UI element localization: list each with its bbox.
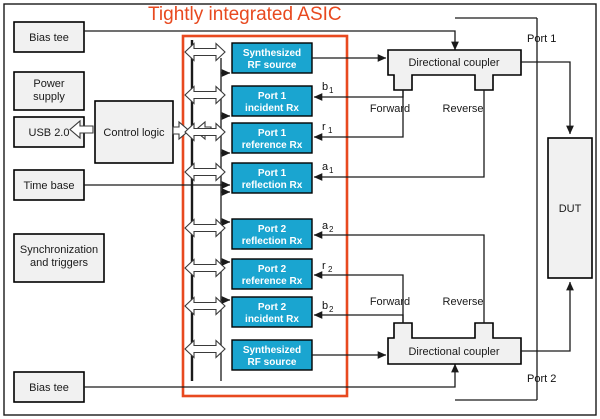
port-1-label: Port 1 (527, 33, 556, 45)
block-label-line2: incident Rx (245, 314, 299, 325)
block-label-line1: Port 1 (258, 168, 287, 179)
block-label-line2: reflection Rx (242, 236, 303, 247)
wire-coupler-forward-b2 (314, 315, 403, 323)
block-label-line1: Synthesized (243, 48, 301, 59)
signal-base: a (322, 161, 329, 173)
signal-sub: 2 (328, 265, 333, 274)
bus-arrow-p2-incident (185, 298, 225, 315)
coupler-bottom-reverse-label: Reverse (443, 296, 484, 308)
signal-base: b (322, 81, 328, 93)
block-p1-reference-rx: Port 1 reference Rx (232, 123, 312, 153)
signal-label-r1: r 1 (322, 121, 333, 135)
block-p2-reflection-rx: Port 2 reflection Rx (232, 219, 312, 249)
directional-coupler-top: Directional coupler (388, 50, 521, 90)
block-label-line1: Port 2 (258, 264, 287, 275)
wire-coupler-reverse-a2 (314, 235, 484, 323)
coupler-top-forward-label: Forward (370, 103, 410, 115)
signal-base: r (322, 121, 326, 133)
bus-arrow-p1-rf (185, 44, 225, 61)
coupler-top-reverse-label: Reverse (443, 103, 484, 115)
block-synchronization-and-triggers: Synchronization and triggers (14, 234, 104, 282)
bus-arrow-p1-incident (185, 87, 225, 104)
block-label-line2: RF source (248, 357, 297, 368)
bus-arrow-p1-reflection (185, 164, 225, 181)
signal-label-a1: a 1 (322, 161, 334, 175)
block-p2-reference-rx: Port 2 reference Rx (232, 259, 312, 289)
signal-sub: 2 (329, 225, 334, 234)
block-label-line1: Port 2 (258, 302, 287, 313)
block-bias-tee-bottom: Bias tee (14, 372, 84, 402)
block-label: Bias tee (29, 32, 69, 44)
wire-coupler-bottom-to-dut (521, 282, 570, 351)
block-power-supply: Power supply (14, 72, 84, 110)
port-2-label: Port 2 (527, 373, 556, 385)
coupler-label: Directional coupler (408, 57, 499, 69)
block-label: Time base (24, 180, 75, 192)
block-label-line2: supply (33, 91, 65, 103)
block-label-line2: reference Rx (242, 140, 303, 151)
block-label: USB 2.0 (29, 127, 70, 139)
signal-sub: 1 (328, 126, 333, 135)
block-label-line1: Synthesized (243, 345, 301, 356)
block-label-line2: RF source (248, 60, 297, 71)
block-label-line2: and triggers (30, 257, 89, 269)
block-label-line2: reflection Rx (242, 180, 303, 191)
signal-label-b1: b 1 (322, 81, 334, 95)
block-control-logic: Control logic (95, 101, 173, 163)
block-p2-synthesized-rf-source: Synthesized RF source (232, 340, 312, 370)
block-bias-tee-top: Bias tee (14, 22, 84, 52)
block-p2-incident-rx: Port 2 incident Rx (232, 297, 312, 327)
block-label-line1: Port 1 (258, 91, 287, 102)
block-label-line1: Port 2 (258, 224, 287, 235)
block-label-line2: incident Rx (245, 103, 299, 114)
signal-base: r (322, 260, 326, 272)
signal-base: a (322, 220, 329, 232)
block-p1-incident-rx: Port 1 incident Rx (232, 86, 312, 116)
block-time-base: Time base (14, 170, 84, 200)
block-diagram-canvas: Tightly integrated ASIC Bias tee Power s… (0, 0, 600, 419)
signal-sub: 1 (329, 166, 334, 175)
wire-coupler-top-to-dut (521, 62, 570, 134)
block-dut: DUT (548, 138, 592, 278)
signal-sub: 2 (329, 305, 334, 314)
block-p1-reflection-rx: Port 1 reflection Rx (232, 163, 312, 193)
coupler-label: Directional coupler (408, 346, 499, 358)
block-label: Bias tee (29, 382, 69, 394)
directional-coupler-bottom: Directional coupler (388, 323, 521, 364)
page-title: Tightly integrated ASIC (148, 4, 342, 25)
block-p1-synthesized-rf-source: Synthesized RF source (232, 43, 312, 73)
block-label-line1: Synchronization (20, 244, 98, 256)
signal-label-a2: a 2 (322, 220, 334, 234)
block-label-line1: Power (33, 78, 65, 90)
block-label: DUT (559, 203, 582, 215)
signal-label-b2: b 2 (322, 300, 334, 314)
block-label-line1: Port 1 (258, 128, 287, 139)
block-label-line2: reference Rx (242, 276, 303, 287)
bus-arrow-p2-reflection (185, 220, 225, 237)
signal-sub: 1 (329, 86, 334, 95)
signal-label-r2: r 2 (322, 260, 333, 274)
bus-arrow-p2-rf (185, 341, 225, 358)
block-label: Control logic (103, 127, 165, 139)
signal-base: b (322, 300, 328, 312)
bus-arrow-p2-reference (185, 260, 225, 277)
coupler-bottom-forward-label: Forward (370, 296, 410, 308)
